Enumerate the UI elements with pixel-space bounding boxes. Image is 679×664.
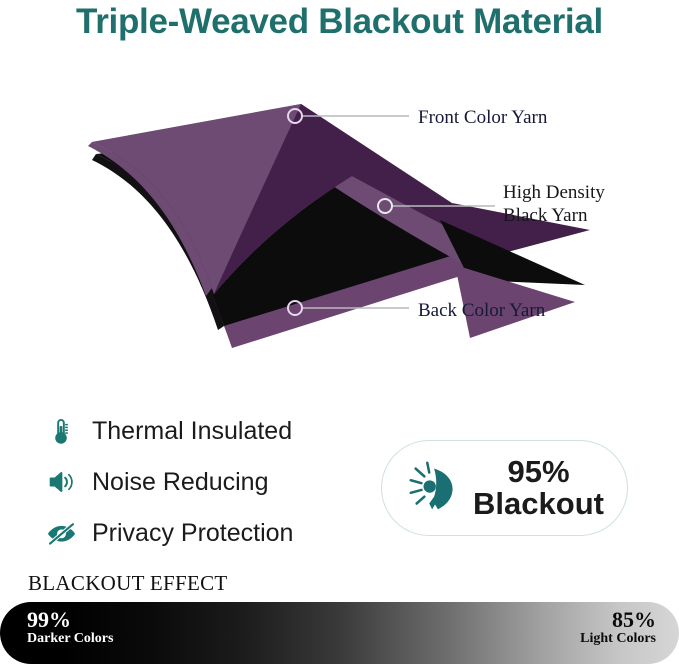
feature-label-thermal-insulated: Thermal Insulated [92, 417, 292, 446]
label-back-color-yarn: Back Color Yarn [418, 299, 545, 322]
light-colors-caption: Light Colors [580, 631, 656, 646]
blackout-badge: 95% Blackout [381, 440, 628, 536]
blackout-effect-light-colors: 85% Light Colors [580, 609, 656, 647]
feature-item-thermal-insulated: Thermal Insulated [44, 410, 364, 452]
blackout-effect-heading: BLACKOUT EFFECT [28, 571, 228, 596]
feature-item-noise-reducing: Noise Reducing [44, 461, 364, 503]
light-colors-percent: 85% [580, 609, 656, 631]
darker-colors-percent: 99% [27, 609, 113, 631]
blackout-effect-darker-colors: 99% Darker Colors [27, 609, 113, 647]
blackout-word: Blackout [473, 488, 604, 520]
label-high-density-black-yarn-line2: Black Yarn [503, 204, 605, 227]
thermometer-icon [44, 414, 78, 448]
blackout-badge-text: 95% Blackout [473, 456, 604, 520]
blackout-percent: 95% [473, 456, 604, 488]
label-front-color-yarn: Front Color Yarn [418, 106, 547, 129]
darker-colors-caption: Darker Colors [27, 631, 113, 646]
feature-item-privacy-protection: Privacy Protection [44, 512, 364, 554]
feature-label-privacy-protection: Privacy Protection [92, 519, 293, 548]
label-high-density-black-yarn-line1: High Density [503, 181, 605, 204]
sun-behind-curtain-icon [405, 457, 467, 519]
feature-label-noise-reducing: Noise Reducing [92, 468, 269, 497]
page-title: Triple-Weaved Blackout Material [0, 2, 679, 42]
label-high-density-black-yarn: High Density Black Yarn [503, 181, 605, 227]
eye-slash-icon [44, 516, 78, 550]
speaker-sound-icon [44, 465, 78, 499]
feature-list: Thermal Insulated Noise Reducing Privacy… [44, 410, 364, 563]
